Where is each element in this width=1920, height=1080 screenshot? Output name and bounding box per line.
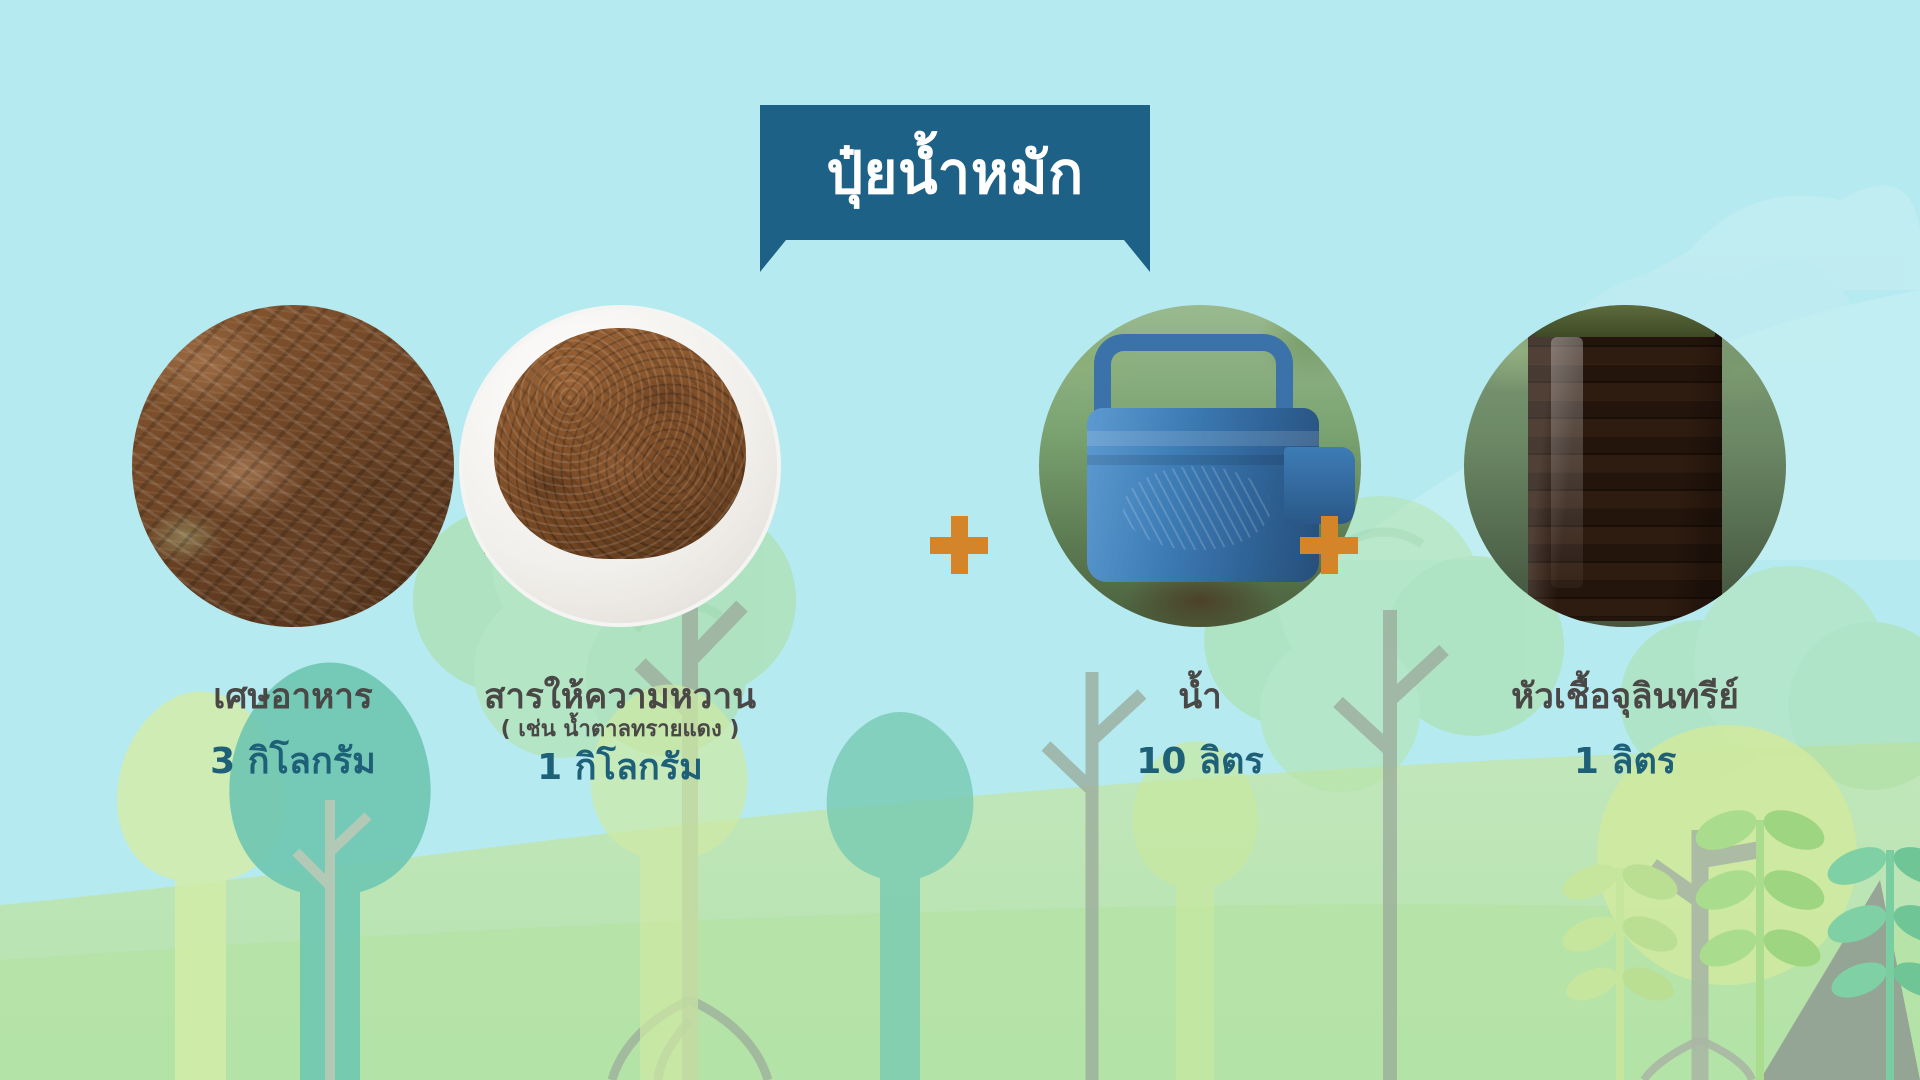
ingredient-sublabel-2: ( เช่น น้ำตาลทรายแดง ) <box>455 718 785 742</box>
bottle-image <box>1464 305 1786 627</box>
ingredient-amount-3: 10 ลิตร <box>1035 744 1365 780</box>
banner-tail-right-icon <box>1124 240 1150 272</box>
ingredient-label-1: เศษอาหาร <box>128 679 458 716</box>
ingredient-label-2: สารให้ความหวาน <box>455 679 785 716</box>
ingredient-amount-2: 1 กิโลกรัม <box>455 750 785 786</box>
microbe-starter-bottle-photo <box>1464 305 1786 627</box>
can-decoration-shape <box>1123 466 1271 550</box>
watering-can-image <box>1039 305 1361 627</box>
ingredient-label-4: หัวเชื้อจุลินทรีย์ <box>1460 679 1790 716</box>
ingredient-amount-4: 1 ลิตร <box>1460 744 1790 780</box>
food-scraps-image <box>132 305 454 627</box>
brown-sugar-photo <box>459 305 781 627</box>
ingredient-amount-1: 3 กิโลกรัม <box>128 744 458 780</box>
can-spout-shape <box>1284 447 1355 524</box>
watering-can-photo <box>1039 305 1361 627</box>
infographic-canvas: ปุ๋ยน้ำหมัก เศษอาหาร 3 กิโลกรัม สารให้คว… <box>0 0 1920 1080</box>
bottle-highlight-shape <box>1551 337 1583 588</box>
plus-icon-3 <box>1300 516 1358 574</box>
bottle-cap-shape <box>1535 305 1715 337</box>
banner-tail-left-icon <box>760 240 786 272</box>
plus-icon-2 <box>930 516 988 574</box>
ingredient-label-3: น้ำ <box>1035 679 1365 716</box>
ingredient-item-2: สารให้ความหวาน ( เช่น น้ำตาลทรายแดง ) 1 … <box>455 305 785 786</box>
ingredient-item-4: หัวเชื้อจุลินทรีย์ 1 ลิตร <box>1460 305 1790 780</box>
page-title: ปุ๋ยน้ำหมัก <box>760 105 1150 240</box>
food-scraps-photo <box>132 305 454 627</box>
title-banner: ปุ๋ยน้ำหมัก <box>760 105 1150 245</box>
ingredient-item-1: เศษอาหาร 3 กิโลกรัม <box>128 305 458 780</box>
brown-sugar-image <box>459 305 781 627</box>
